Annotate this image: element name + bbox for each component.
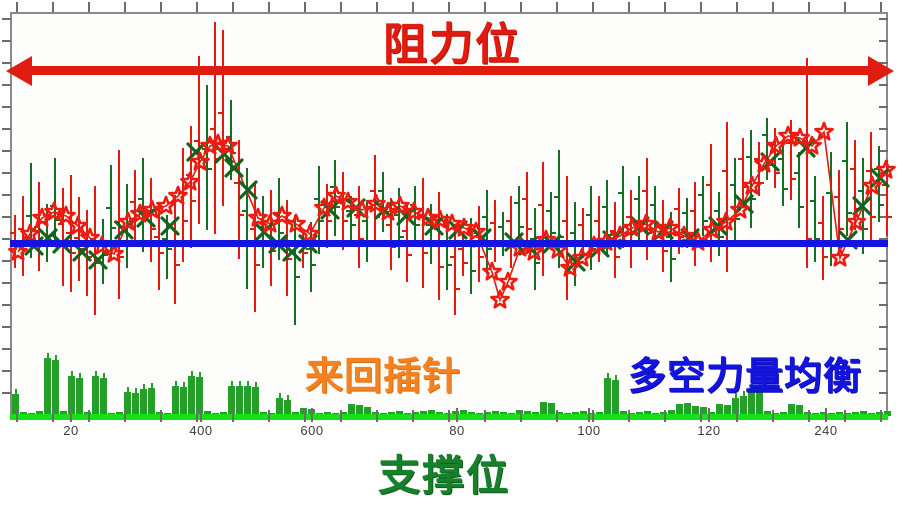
volume-bar: [132, 393, 139, 416]
star-marker: [876, 160, 896, 180]
annotation-balance: 多空力量均衡: [628, 345, 862, 400]
star-marker: [466, 222, 486, 242]
x-tick: [772, 410, 774, 422]
volume-wick: [607, 373, 609, 379]
volume-wick: [103, 373, 105, 379]
x-tick: [52, 410, 54, 422]
x-axis-tick-label: 600: [281, 423, 343, 438]
x-tick-major: [200, 408, 202, 422]
volume-bar: [52, 360, 59, 416]
star-marker: [218, 136, 238, 156]
volume-wick: [183, 382, 185, 388]
volume-bar: [92, 376, 99, 416]
volume-wick: [79, 373, 81, 379]
star-marker: [498, 272, 518, 292]
x-tick: [664, 410, 666, 422]
volume-bar: [172, 386, 179, 416]
volume-wick: [615, 375, 617, 381]
star-marker: [742, 176, 762, 196]
x-axis-tick-label: 20: [40, 423, 102, 438]
star-marker: [830, 248, 850, 268]
volume-wick: [175, 381, 177, 387]
x-tick: [304, 410, 306, 422]
x-tick: [268, 410, 270, 422]
x-tick: [628, 410, 630, 422]
x-tick-major: [708, 408, 710, 422]
x-tick-major: [825, 408, 827, 422]
volume-wick: [135, 388, 137, 394]
balance-line: [10, 240, 888, 247]
x-tick: [520, 410, 522, 422]
volume-wick: [151, 383, 153, 389]
resistance-arrow-left-head: [6, 56, 32, 86]
x-tick: [592, 410, 594, 422]
volume-wick: [15, 389, 17, 395]
volume-wick: [279, 393, 281, 399]
star-marker: [754, 154, 774, 174]
x-tick: [556, 410, 558, 422]
volume-bar: [244, 386, 251, 416]
star-marker: [490, 290, 510, 310]
volume-wick: [239, 381, 241, 387]
x-tick-major: [70, 408, 72, 422]
volume-bar: [236, 386, 243, 416]
x-tick: [700, 410, 702, 422]
volume-wick: [143, 384, 145, 390]
x-tick-major: [311, 408, 313, 422]
x-axis-tick-label: 100: [558, 423, 620, 438]
volume-bar: [188, 376, 195, 416]
x-tick: [808, 410, 810, 422]
volume-wick: [231, 381, 233, 387]
x-tick: [160, 410, 162, 422]
volume-bar: [140, 389, 147, 416]
x-tick: [448, 410, 450, 422]
volume-bar: [100, 378, 107, 416]
x-tick-major: [456, 408, 458, 422]
x-tick: [376, 410, 378, 422]
volume-wick: [71, 371, 73, 377]
x-tick: [196, 410, 198, 422]
volume-bar: [252, 387, 259, 416]
volume-wick: [199, 372, 201, 378]
star-marker: [814, 122, 834, 142]
volume-wick: [127, 387, 129, 393]
x-tick: [880, 410, 882, 422]
volume-bar: [148, 388, 155, 416]
x-tick: [412, 410, 414, 422]
x-tick-major: [588, 408, 590, 422]
x-tick: [844, 410, 846, 422]
chart-canvas: 2040060080100120240 阻力位 来回插针 多空力量均衡 支撑位: [0, 0, 900, 506]
volume-wick: [247, 381, 249, 387]
x-tick: [124, 410, 126, 422]
resistance-arrow-right-head: [868, 56, 894, 86]
x-tick: [340, 410, 342, 422]
volume-bar: [44, 358, 51, 416]
annotation-pin-bar: 来回插针: [305, 345, 461, 400]
volume-bar: [76, 378, 83, 416]
volume-wick: [95, 371, 97, 377]
star-marker: [846, 212, 866, 232]
x-tick: [484, 410, 486, 422]
annotation-resistance: 阻力位: [383, 8, 521, 72]
star-marker: [104, 244, 124, 264]
volume-bar: [612, 380, 619, 416]
x-tick: [16, 410, 18, 422]
x-tick: [736, 410, 738, 422]
x-axis-tick-label: 400: [170, 423, 232, 438]
volume-wick: [287, 395, 289, 401]
x-axis-tick-label: 240: [795, 423, 857, 438]
x-tick: [232, 410, 234, 422]
x-axis-tick-label: 120: [678, 423, 740, 438]
x-tick: [88, 410, 90, 422]
volume-bar: [180, 387, 187, 416]
volume-wick: [255, 382, 257, 388]
x-axis-tick-label: 80: [426, 423, 488, 438]
volume-wick: [191, 371, 193, 377]
volume-bar: [604, 378, 611, 416]
star-marker: [730, 200, 750, 220]
star-marker: [180, 172, 200, 192]
annotation-support: 支撑位: [378, 442, 510, 503]
